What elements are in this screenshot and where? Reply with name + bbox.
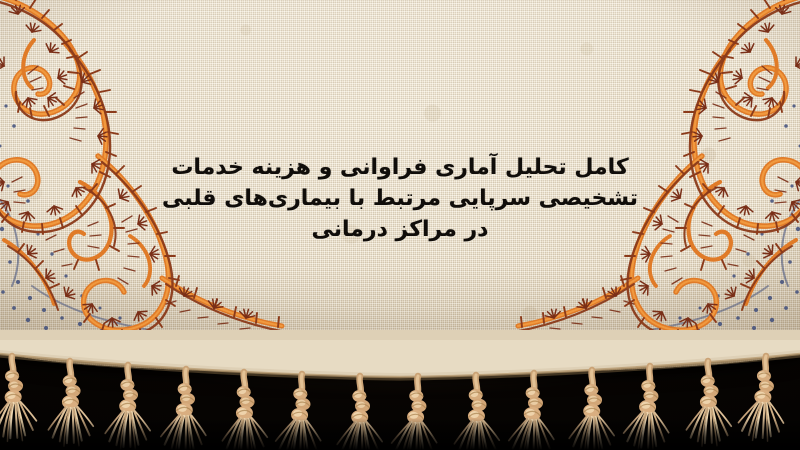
slide-canvas: کامل تحلیل آماری فراوانی و هزینه خدمات ت… (0, 0, 800, 450)
slide-title: کامل تحلیل آماری فراوانی و هزینه خدمات ت… (140, 152, 660, 245)
title-line-1: کامل تحلیل آماری فراوانی و هزینه خدمات (140, 152, 660, 183)
title-line-2: تشخیصی سرپایی مرتبط با بیماری‌های قلبی (140, 183, 660, 214)
title-line-3: در مراکز درمانی (140, 214, 660, 245)
cloth-hem-shadow (0, 340, 800, 374)
